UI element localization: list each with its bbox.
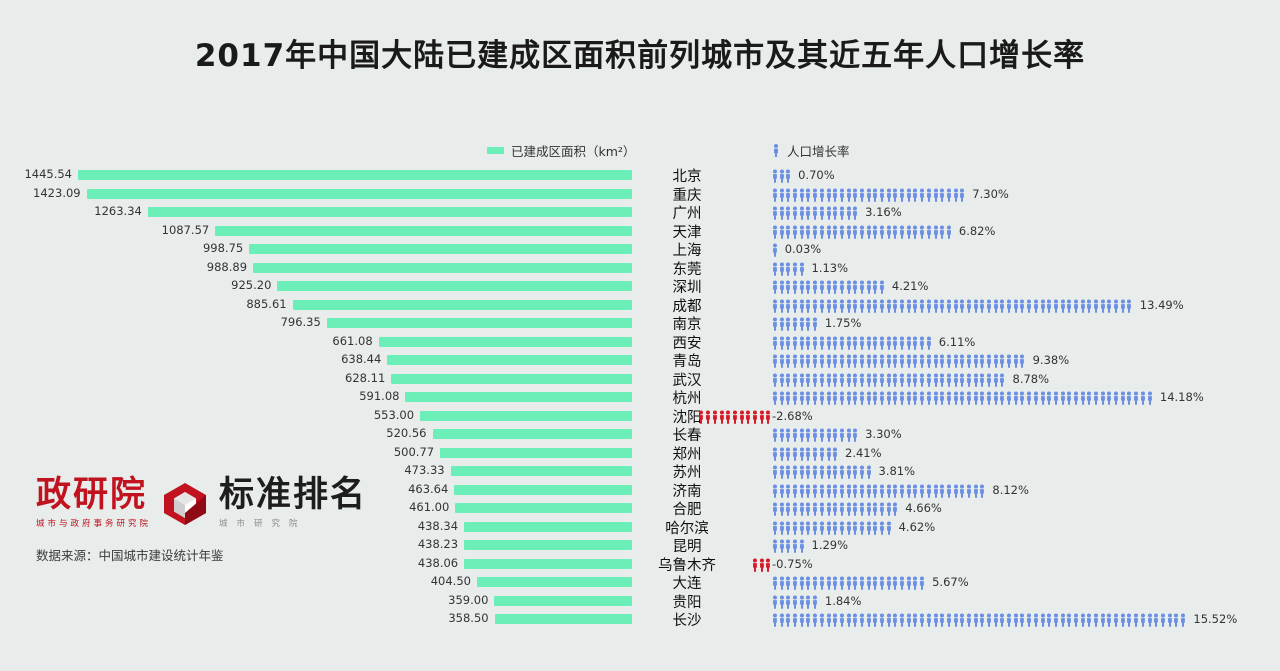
person-icon [799,594,806,608]
person-icon [993,298,1000,312]
person-icon [805,353,812,367]
person-icon [946,483,953,497]
bar-track [78,407,632,426]
person-icon [866,335,873,349]
person-icon [879,279,886,293]
person-icon [785,335,792,349]
person-icon [993,612,1000,626]
person-icon [812,316,819,330]
person-icon [832,279,839,293]
area-bar [440,448,632,458]
bar-track [78,166,632,185]
person-icon [912,298,919,312]
person-icon [839,224,846,238]
person-icon [852,575,859,589]
person-icon [792,205,799,219]
pictogram-positive [772,316,819,331]
pictogram-positive [772,187,966,202]
bar-track [78,314,632,333]
person-icon [819,464,826,478]
pictogram-positive [772,372,1006,387]
person-icon [805,483,812,497]
person-icon [792,575,799,589]
person-icon [866,390,873,404]
person-icon [906,298,913,312]
person-icon [1053,298,1060,312]
person-icon [805,501,812,515]
person-icon [779,612,786,626]
person-icon [1106,612,1113,626]
person-icon [792,353,799,367]
person-icon [772,464,779,478]
person-icon [919,335,926,349]
person-icon [765,557,772,571]
person-icon [819,353,826,367]
person-icon [839,298,846,312]
person-icon [779,538,786,552]
person-icon [872,335,879,349]
person-icon [826,464,833,478]
person-icon [805,612,812,626]
person-icon [1086,390,1093,404]
person-icon [805,594,812,608]
person-icon [993,353,1000,367]
person-icon [826,279,833,293]
person-icon [805,205,812,219]
person-icon [953,390,960,404]
person-icon [839,575,846,589]
person-icon [799,261,806,275]
person-icon [805,575,812,589]
person-icon [933,187,940,201]
person-icon [812,353,819,367]
person-icon [852,501,859,515]
person-icon [785,520,792,534]
person-icon [866,372,873,386]
person-icon [1140,390,1147,404]
person-icon [852,427,859,441]
person-icon [1080,298,1087,312]
person-icon [799,483,806,497]
person-icon [866,464,873,478]
area-bar [277,281,632,291]
person-icon [959,353,966,367]
person-icon [785,353,792,367]
pictogram-positive [772,427,859,442]
footer: 政研院 城市与政府事务研究院 标准排名 城市研究院 数据来源：中国城市建设统计年… [36,478,367,564]
pictogram-positive [772,446,839,461]
person-icon [772,575,779,589]
bar-track [78,444,632,463]
person-icon [812,575,819,589]
person-icon [839,520,846,534]
person-icon [852,205,859,219]
pictogram-positive [772,501,899,516]
pictogram-positive [772,279,886,294]
bar-track [78,277,632,296]
person-icon [779,501,786,515]
person-icon [886,390,893,404]
person-icon [805,298,812,312]
person-icon [886,575,893,589]
growth-value-label: -0.75% [772,557,813,571]
person-icon [826,520,833,534]
person-icon [805,427,812,441]
growth-value-label: -2.68% [772,409,813,423]
person-icon [872,187,879,201]
person-icon [879,390,886,404]
person-icon [799,205,806,219]
person-icon [792,483,799,497]
person-icon [946,372,953,386]
person-icon [812,390,819,404]
person-icon [959,612,966,626]
person-icon [772,205,779,219]
person-icon [846,335,853,349]
person-icon [906,575,913,589]
person-icon [792,316,799,330]
person-icon [1180,612,1187,626]
person-icon [779,224,786,238]
person-icon [1147,612,1154,626]
person-icon [772,390,779,404]
area-bar [387,355,632,365]
person-icon [792,335,799,349]
person-icon [1026,298,1033,312]
area-bar [477,577,632,587]
person-icon [852,224,859,238]
person-icon [879,187,886,201]
person-icon [919,187,926,201]
person-icon [986,372,993,386]
person-icon [805,464,812,478]
person-icon [805,446,812,460]
growth-value-label: 1.29% [812,538,849,552]
area-bar [405,392,632,402]
person-icon [906,483,913,497]
pictogram-positive [772,390,1153,405]
person-icon [1086,612,1093,626]
person-icon [1106,298,1113,312]
chart-row: 638.44青岛9.38% [0,351,1280,370]
person-icon [1013,298,1020,312]
person-icon [1086,298,1093,312]
growth-value-label: 8.12% [992,483,1029,497]
person-icon [892,501,899,515]
person-icon [799,520,806,534]
person-icon [846,520,853,534]
person-icon [826,612,833,626]
person-icon [872,501,879,515]
area-bar [148,207,632,217]
person-icon [899,372,906,386]
person-icon [953,353,960,367]
person-icon [1080,390,1087,404]
logo-zhengyanyuan: 政研院 城市与政府事务研究院 [36,478,151,529]
person-icon [953,483,960,497]
person-icon [1120,298,1127,312]
person-icon [852,464,859,478]
person-icon [812,446,819,460]
person-icon [859,298,866,312]
person-icon [859,464,866,478]
person-icon [892,372,899,386]
person-icon [785,483,792,497]
person-icon [939,483,946,497]
area-bar [494,596,632,606]
person-icon [819,575,826,589]
person-icon [772,483,779,497]
pictogram-positive [772,575,926,590]
person-icon [779,168,786,182]
pictogram-negative [752,557,772,572]
growth-value-label: 5.67% [932,575,969,589]
logo-left-main: 政研院 [36,478,151,513]
person-icon [852,483,859,497]
person-icon [812,372,819,386]
person-icon [839,501,846,515]
person-icon [912,390,919,404]
person-icon [732,409,739,423]
person-icon [939,298,946,312]
pictogram-negative [698,409,772,424]
person-icon [846,575,853,589]
person-icon [1060,612,1067,626]
person-icon [852,520,859,534]
person-icon [993,390,1000,404]
bar-track [78,351,632,370]
person-icon [799,279,806,293]
area-bar [253,263,632,273]
area-bar [379,337,632,347]
person-icon [705,409,712,423]
person-icon [819,390,826,404]
person-icon [1006,298,1013,312]
person-icon [1066,390,1073,404]
person-icon [772,168,779,182]
person-icon [966,353,973,367]
person-icon [1040,612,1047,626]
person-icon [745,409,752,423]
person-icon [792,224,799,238]
person-icon [839,464,846,478]
area-bar [87,189,632,199]
area-bar [327,318,632,328]
person-icon [792,464,799,478]
person-icon [779,464,786,478]
person-icon [999,298,1006,312]
person-icon [912,187,919,201]
person-icon [819,224,826,238]
person-icon [879,224,886,238]
person-icon [799,427,806,441]
growth-value-label: 1.75% [825,316,862,330]
person-icon [1093,390,1100,404]
person-icon [859,390,866,404]
growth-value-label: 0.03% [785,242,822,256]
person-icon [799,353,806,367]
person-icon [866,298,873,312]
person-icon [933,390,940,404]
person-icon [725,409,732,423]
page-title: 2017年中国大陆已建成区面积前列城市及其近五年人口增长率 [0,30,1280,75]
person-icon [799,187,806,201]
person-icon [926,298,933,312]
person-icon [926,335,933,349]
person-icon [812,501,819,515]
person-icon [879,501,886,515]
person-icon [839,279,846,293]
person-icon [999,372,1006,386]
person-icon [812,612,819,626]
person-icon [926,353,933,367]
person-icon [912,335,919,349]
person-icon [919,612,926,626]
person-icon [799,335,806,349]
growth-value-label: 9.38% [1033,353,1070,367]
person-icon [772,279,779,293]
person-icon [979,353,986,367]
person-icon [826,575,833,589]
person-icon [886,224,893,238]
person-icon [799,538,806,552]
person-icon [966,372,973,386]
person-icon [739,409,746,423]
person-icon [879,612,886,626]
person-icon [839,390,846,404]
bar-track [78,370,632,389]
bar-track [78,259,632,278]
person-icon [866,520,873,534]
person-icon [986,298,993,312]
person-icon [832,446,839,460]
person-icon [899,224,906,238]
person-icon [846,224,853,238]
person-icon [859,520,866,534]
area-bar [455,503,632,513]
person-icon [826,390,833,404]
person-icon [772,335,779,349]
person-icon [1126,390,1133,404]
logo-row: 政研院 城市与政府事务研究院 标准排名 城市研究院 [36,478,367,529]
person-icon [1073,298,1080,312]
person-icon [939,224,946,238]
person-icon [973,372,980,386]
person-icon [906,353,913,367]
growth-value-label: 6.11% [939,335,976,349]
person-icon [839,372,846,386]
area-bar [464,540,632,550]
pictogram-positive [772,594,819,609]
person-icon [999,612,1006,626]
person-icon [933,612,940,626]
person-icon [805,224,812,238]
person-icon [1019,298,1026,312]
person-icon [832,335,839,349]
person-icon [966,298,973,312]
person-icon [792,501,799,515]
person-icon [812,279,819,293]
person-icon [1053,390,1060,404]
bar-track [78,296,632,315]
person-icon [846,612,853,626]
person-icon [772,427,779,441]
person-icon [919,575,926,589]
bar-track [78,425,632,444]
person-icon [819,335,826,349]
person-icon [792,446,799,460]
person-icon [899,390,906,404]
person-icon [785,205,792,219]
person-icon [779,335,786,349]
person-icon [832,501,839,515]
person-icon [1080,612,1087,626]
person-icon [906,335,913,349]
person-icon [1019,612,1026,626]
person-icon [999,390,1006,404]
person-icon [879,298,886,312]
person-icon [779,483,786,497]
person-icon [812,427,819,441]
person-icon [866,279,873,293]
person-icon [785,390,792,404]
logo-right-sub: 城市研究院 [219,517,367,529]
person-icon [792,520,799,534]
person-icon [939,187,946,201]
person-icon [886,298,893,312]
data-source-note: 数据来源：中国城市建设统计年鉴 [36,545,367,564]
person-icon [872,483,879,497]
person-icon [819,372,826,386]
person-icon [872,575,879,589]
person-icon [1026,390,1033,404]
person-icon [839,427,846,441]
person-icon [772,520,779,534]
chart-legend: 已建成区面积（km²） 人口增长率 [0,141,1280,163]
person-icon [1026,612,1033,626]
person-icon [1133,612,1140,626]
area-bar [215,226,632,236]
person-icon [846,464,853,478]
person-icon [906,390,913,404]
person-icon [819,501,826,515]
person-icon [872,298,879,312]
person-icon [866,353,873,367]
person-icon [1140,612,1147,626]
person-icon [1019,353,1026,367]
person-icon [826,224,833,238]
person-icon [832,464,839,478]
person-icon [872,224,879,238]
person-icon [812,464,819,478]
person-icon [832,390,839,404]
person-icon [779,261,786,275]
person-icon [805,279,812,293]
pictogram-positive [772,224,953,239]
person-icon [826,187,833,201]
person-icon [812,205,819,219]
legend-item-area: 已建成区面积（km²） [487,141,635,160]
person-icon [779,446,786,460]
person-icon [979,612,986,626]
person-icon [712,409,719,423]
chart-row: 998.75上海0.03% [0,240,1280,259]
person-icon [912,353,919,367]
person-icon [799,501,806,515]
person-icon [919,390,926,404]
person-icon [772,224,779,238]
person-icon [899,483,906,497]
